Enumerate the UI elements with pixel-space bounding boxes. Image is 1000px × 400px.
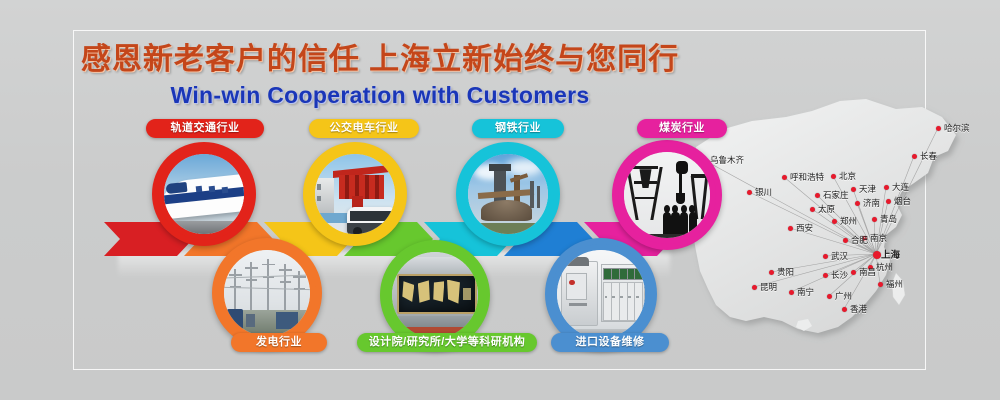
map-city-label-16: 合肥 (851, 234, 868, 246)
map-city-dot-7 (747, 190, 752, 195)
map-city-label-25: 广州 (835, 290, 852, 302)
industry-circle-top-0[interactable] (152, 142, 256, 246)
map-city-dot-22 (878, 282, 883, 287)
map-city-dot-20 (823, 273, 828, 278)
map-city-dot-12 (872, 217, 877, 222)
pylon-arm-0a (229, 274, 242, 276)
breaker-slot (569, 303, 587, 307)
map-city-label-19: 贵阳 (777, 266, 794, 278)
map-city-dot-5 (851, 187, 856, 192)
window-b (208, 186, 215, 193)
map-city-dot-10 (886, 199, 891, 204)
industry-photo-university-gate-plaque (392, 252, 478, 338)
breaker-top (564, 257, 589, 266)
map-city-label-17: 武汉 (831, 250, 848, 262)
panel-handle-1 (612, 296, 615, 298)
industry-photo-steel-blast-furnace (468, 154, 548, 234)
map-city-label-5: 天津 (859, 183, 876, 195)
map-city-dot-11 (810, 207, 815, 212)
panel-handle-0 (605, 296, 608, 298)
pylon-arm-3b (280, 281, 291, 283)
map-city-label-20: 长沙 (831, 269, 848, 281)
equipment-blue (227, 309, 242, 330)
crane-hook (676, 193, 685, 203)
industry-circle-top-2[interactable] (456, 142, 560, 246)
industry-label-top-2[interactable]: 钢铁行业 (472, 119, 564, 138)
china-map: 哈尔滨长春乌鲁木齐呼和浩特北京天津大连银川石家庄济南烟台太原青岛郑州西安南京合肥… (690, 95, 990, 370)
map-city-dot-24 (789, 290, 794, 295)
pylon-arm-3a (279, 269, 292, 271)
map-city-dot-0 (936, 126, 941, 131)
map-city-label-1: 长春 (920, 150, 937, 162)
mast-top (691, 174, 708, 177)
derrick-top (633, 166, 659, 169)
map-city-dot-8 (815, 193, 820, 198)
industry-label-top-3[interactable]: 煤炭行业 (637, 119, 727, 138)
panel-handle-3 (628, 296, 631, 298)
panel-door-4 (634, 282, 643, 321)
map-city-label-8: 石家庄 (823, 189, 849, 201)
industry-label-bottom-1[interactable]: 设计院/研究所/大学等科研机构 (357, 333, 537, 352)
map-hub-dot (873, 251, 881, 259)
bus-wheel-a (353, 227, 362, 234)
map-city-dot-3 (782, 175, 787, 180)
window-c (221, 186, 228, 193)
glyph-small (463, 288, 472, 300)
industry-label-top-1[interactable]: 公交电车行业 (309, 119, 419, 138)
stack-b (537, 186, 540, 208)
industry-circle-top-3[interactable] (612, 140, 722, 250)
worker-d-body (689, 212, 698, 234)
industry-photo-high-speed-train (164, 154, 244, 234)
glyph-2 (418, 280, 430, 302)
map-hub-label: 上海 (881, 247, 900, 261)
industry-photo-switchgear-cabinets (557, 250, 645, 338)
panel-handle-4 (636, 296, 639, 298)
industry-label-bottom-0[interactable]: 发电行业 (231, 333, 327, 352)
equipment-blue2 (276, 312, 298, 329)
map-city-label-24: 南宁 (797, 286, 814, 298)
overhang (392, 257, 478, 276)
map-city-dot-1 (912, 154, 917, 159)
furnace-belly (481, 200, 532, 221)
map-city-label-2: 乌鲁木齐 (710, 154, 744, 166)
ground-line (624, 234, 710, 238)
map-city-label-26: 香港 (850, 303, 867, 315)
furnace-head (489, 164, 511, 171)
pylon-mast-2 (267, 259, 269, 312)
map-city-dot-21 (851, 270, 856, 275)
industry-circle-top-1[interactable] (303, 142, 407, 246)
map-city-label-15: 南京 (870, 232, 887, 244)
window-a (196, 186, 203, 193)
map-city-dot-17 (823, 254, 828, 259)
bus-wheel-b (379, 227, 388, 234)
map-city-label-11: 太原 (818, 203, 835, 215)
map-city-dot-26 (842, 307, 847, 312)
page-title-chinese: 感恩新老客户的信任 上海立新始终与您同行 (0, 44, 760, 76)
map-city-label-3: 呼和浩特 (790, 171, 824, 183)
glyph-3 (433, 281, 444, 302)
map-city-label-10: 烟台 (894, 195, 911, 207)
worker-b-body (671, 212, 680, 234)
industry-circle-bottom-0[interactable] (212, 238, 322, 348)
equipment-grey (246, 314, 255, 328)
map-city-label-13: 郑州 (840, 215, 857, 227)
industry-photo-coal-mine-workers (624, 152, 710, 238)
pylon-arm-4a (293, 276, 306, 278)
map-city-dot-4 (831, 174, 836, 179)
map-city-label-0: 哈尔滨 (944, 122, 970, 134)
bus-windows (350, 211, 392, 221)
bldg-window (317, 184, 321, 190)
crane-block (676, 161, 688, 175)
map-city-label-7: 银川 (755, 186, 772, 198)
industry-label-bottom-2[interactable]: 进口设备维修 (551, 333, 669, 352)
map-outline-svg (690, 95, 990, 370)
map-city-label-22: 福州 (886, 278, 903, 290)
bldg-window2 (317, 196, 321, 202)
map-city-label-4: 北京 (839, 170, 856, 182)
pylon-arm-2a (262, 264, 275, 266)
windshield (165, 182, 187, 194)
track (164, 221, 244, 234)
pylon-arm-1b (246, 279, 257, 281)
panel-handle-2 (620, 296, 623, 298)
industry-photo-city-bus-pavilion (315, 154, 395, 234)
banner-root: 感恩新老客户的信任 上海立新始终与您同行 Win-win Cooperation… (0, 0, 1000, 400)
worker-a-body (663, 212, 672, 234)
map-city-label-9: 济南 (863, 197, 880, 209)
map-city-dot-23 (752, 285, 757, 290)
map-city-dot-13 (832, 219, 837, 224)
mainland-shape (692, 99, 956, 333)
map-city-label-23: 昆明 (760, 281, 777, 293)
ground (474, 223, 548, 234)
industry-photo-power-substation (224, 250, 310, 336)
panel-meter-4 (634, 268, 643, 281)
stack-a (530, 181, 533, 208)
map-city-dot-25 (827, 294, 832, 299)
map-city-label-18: 杭州 (876, 261, 893, 273)
map-city-dot-19 (769, 270, 774, 275)
worker-c-body (680, 212, 689, 234)
industry-label-top-0[interactable]: 轨道交通行业 (146, 119, 264, 138)
pylon-arm-1a (245, 267, 258, 269)
map-city-label-14: 西安 (796, 222, 813, 234)
map-city-dot-16 (843, 238, 848, 243)
map-city-label-6: 大连 (892, 181, 909, 193)
map-city-dot-14 (788, 226, 793, 231)
page-title-english: Win-win Cooperation with Customers (0, 82, 760, 109)
title-block: 感恩新老客户的信任 上海立新始终与您同行 Win-win Cooperation… (0, 44, 760, 109)
red-button (569, 280, 574, 285)
map-city-dot-9 (855, 201, 860, 206)
map-city-label-12: 青岛 (880, 213, 897, 225)
map-city-dot-6 (884, 185, 889, 190)
breaker-face (566, 273, 587, 300)
map-city-label-21: 南昌 (859, 266, 876, 278)
crane-cable (679, 173, 682, 195)
derrick-brace-b (635, 197, 656, 200)
